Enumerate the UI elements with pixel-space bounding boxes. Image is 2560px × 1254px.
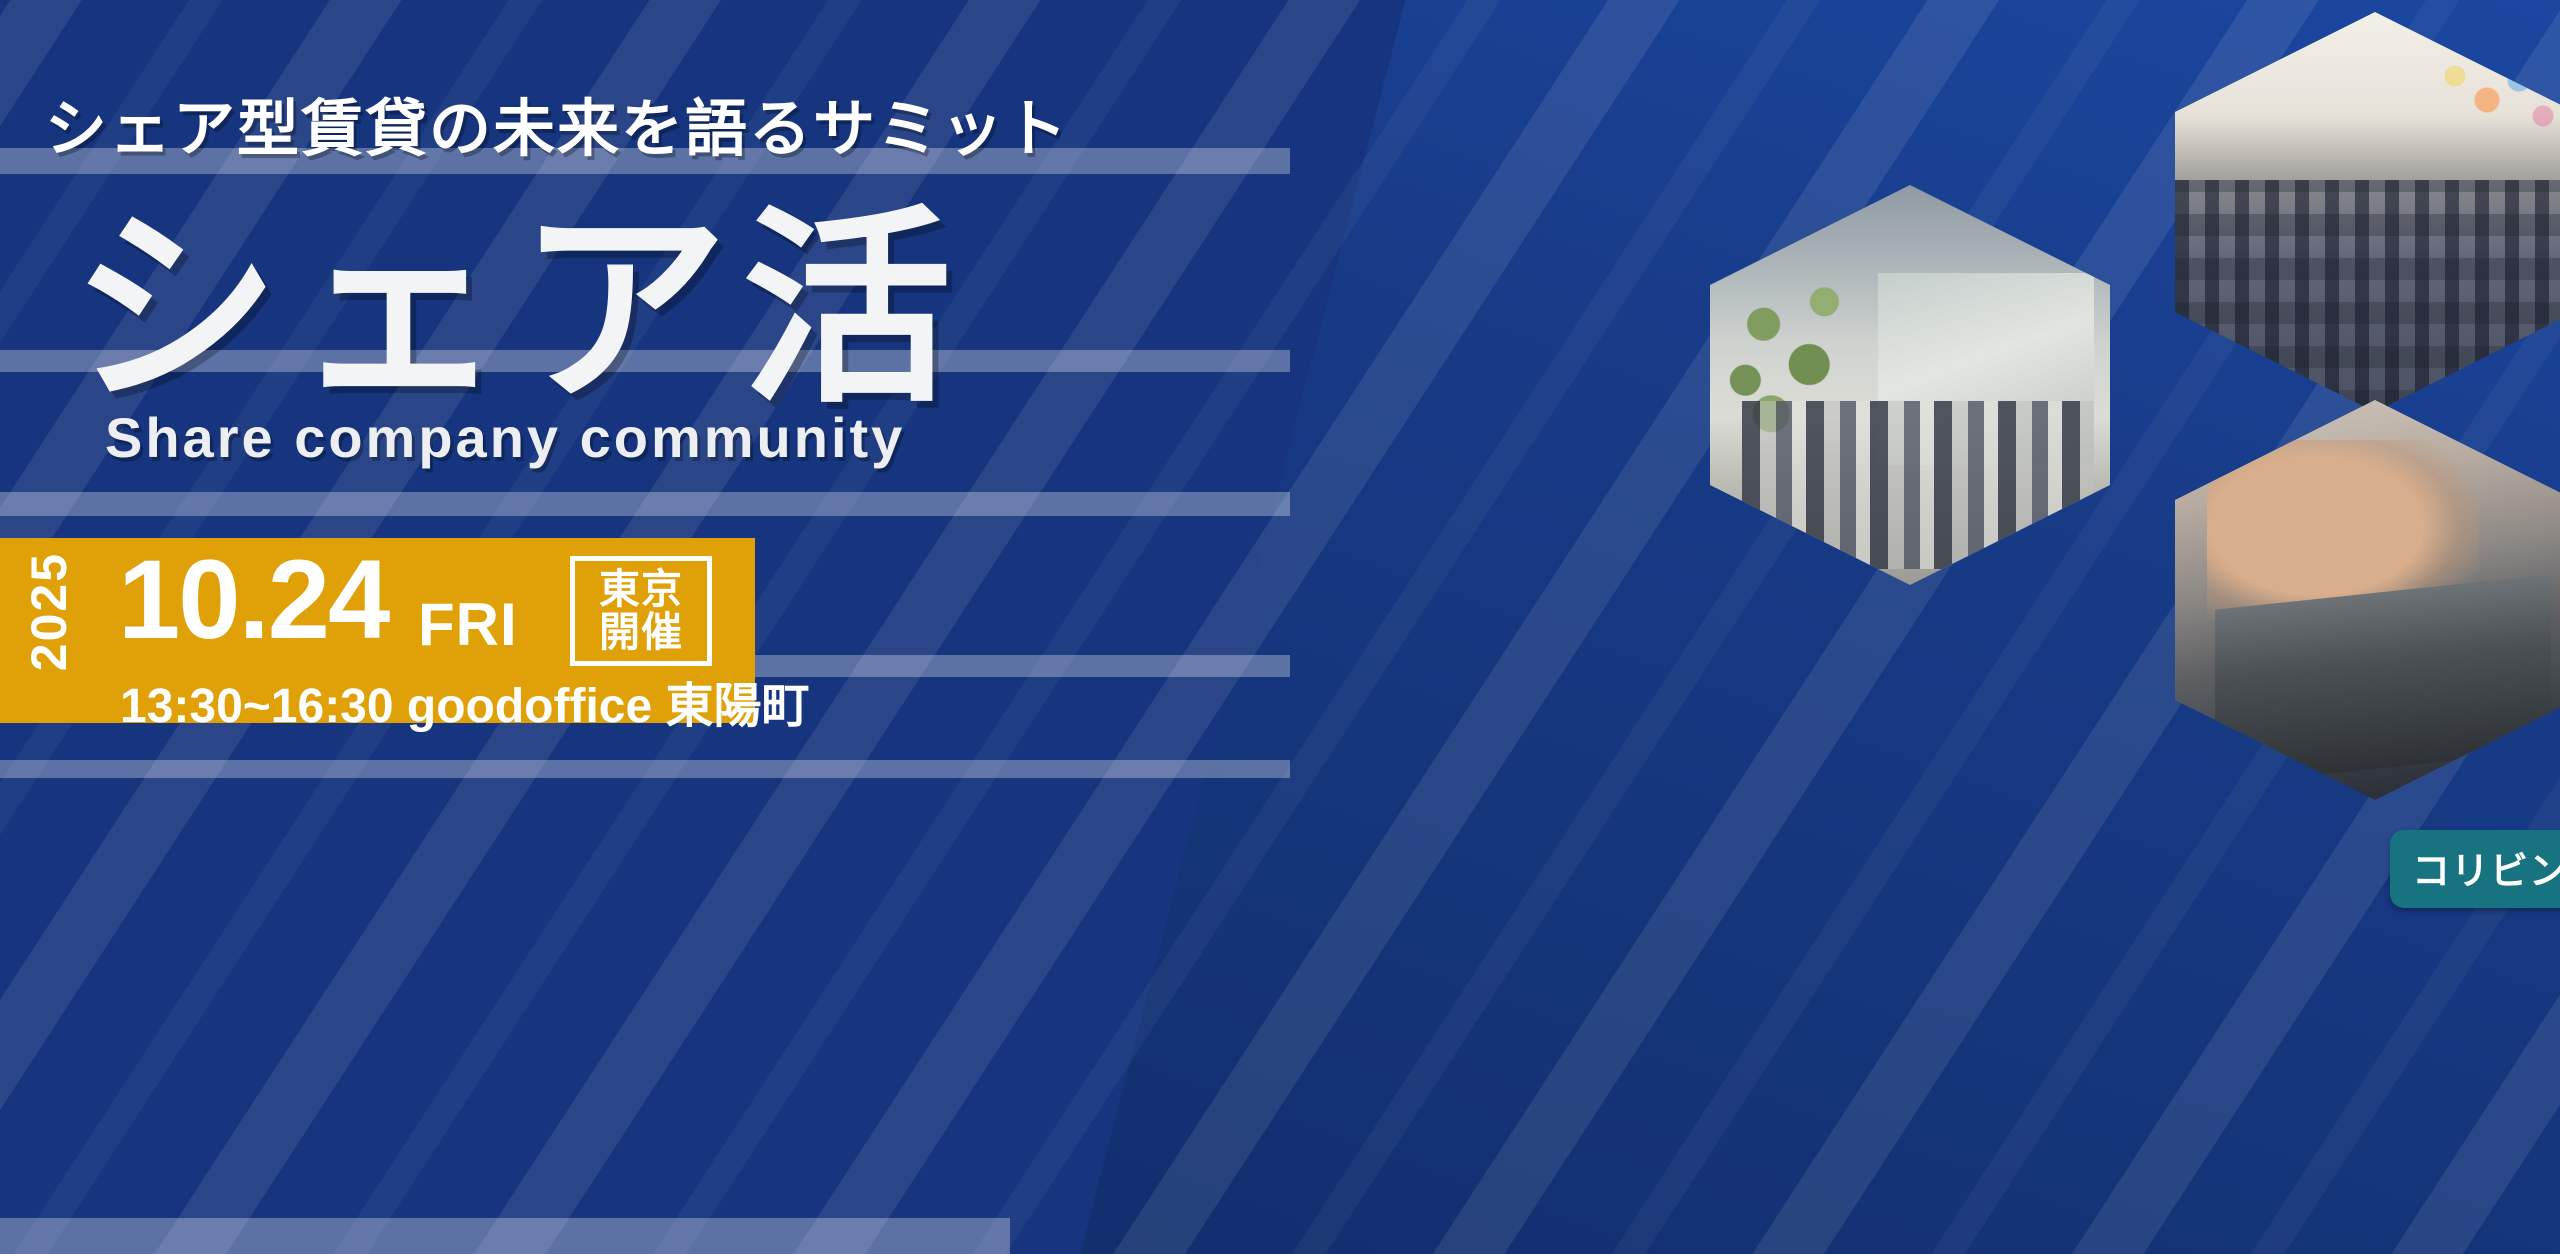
hexagon-photo-building-entrance [1710,185,2110,585]
date-bar: 2025 10.24 FRI 東京 開催 13:30~16:30 goodoff… [0,538,755,723]
photo-detail-laptop [2215,574,2551,785]
photo-detail-audience [2175,180,2560,412]
topic-label-coliving-strategy: コリビング賃貸戦略 [2390,830,2560,908]
event-day-of-week: FRI [418,590,518,659]
event-tagline: Share company community [105,405,905,470]
city-badge: 東京 開催 [570,556,712,666]
photo-detail-crowd [1742,401,2094,569]
city-badge-line1: 東京 [599,568,683,611]
photo-hands-on-laptop [2175,400,2560,800]
city-badge-line2: 開催 [599,611,683,654]
event-logo-title: シェア活 [70,205,966,415]
hexagon-photo-laptop [2175,400,2560,800]
event-headline: シェア型賃貸の未来を語るサミット [45,78,1069,168]
hexagon-photo-seminar [2175,12,2560,412]
photo-building-entrance [1710,185,2110,585]
event-time-and-venue: 13:30~16:30 goodoffice 東陽町 [120,666,810,736]
event-year: 2025 [20,552,78,671]
event-date: 10.24 [118,544,388,656]
photo-seminar-room [2175,12,2560,412]
hexagon-photo-cluster: シェア住居最新トレンド コリビング賃貸戦略 コミュニティの仕組み化 [1000,0,2560,1254]
event-promo-banner: シェア型賃貸の未来を語るサミット シェア活 Share company comm… [0,0,2560,1254]
